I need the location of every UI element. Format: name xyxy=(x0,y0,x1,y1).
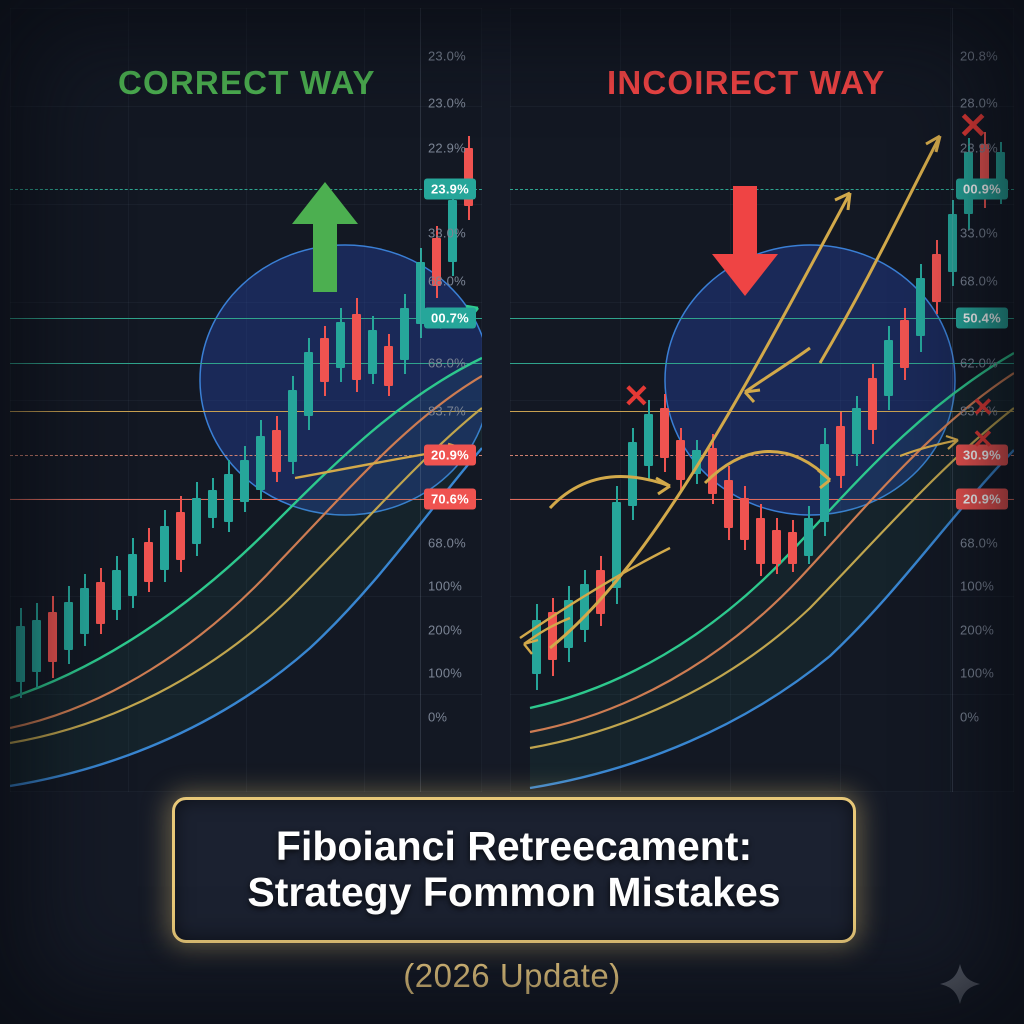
axis-line xyxy=(952,8,953,792)
axis-tick: 20.8% xyxy=(960,49,998,64)
correct-way-header: CORRECT WAY xyxy=(118,64,376,102)
axis-tick: 28.0% xyxy=(960,96,998,111)
axis-tick: 83.7% xyxy=(428,404,466,419)
axis-tick: 23.0% xyxy=(428,49,466,64)
incorrect-way-header: INCOIRECT WAY xyxy=(607,64,885,102)
x-mark-icon: ✕ xyxy=(623,380,650,412)
gold-annotation-arrows xyxy=(510,8,1014,792)
incorrect-way-chart[interactable]: ✕ ✕ 20.8% 28.0% 23.9% 00.9% 33.0% 68.0% … xyxy=(510,8,1014,792)
axis-tick: 68.0% xyxy=(960,536,998,551)
price-axis-right[interactable]: 20.8% 28.0% 23.9% 00.9% 33.0% 68.0% 50.4… xyxy=(952,8,1014,792)
axis-tick: 68.0% xyxy=(960,274,998,289)
x-mark-icon: ✕ xyxy=(972,426,994,452)
axis-tick-badge: 70.6% xyxy=(424,489,476,510)
up-arrow-icon xyxy=(290,182,360,292)
axis-tick: 100% xyxy=(428,579,462,594)
axis-tick: 100% xyxy=(428,666,462,681)
axis-tick-badge: 50.4% xyxy=(956,308,1008,329)
sparkle-icon xyxy=(938,962,982,1006)
axis-tick: 100% xyxy=(960,666,994,681)
axis-tick: 23.9% xyxy=(960,141,998,156)
infographic-root: 23.0% 23.0% 22.9% 23.9% 33.0% 68.0% 00.7… xyxy=(0,0,1024,1024)
axis-line xyxy=(420,8,421,792)
axis-tick: 68.0% xyxy=(428,274,466,289)
axis-tick: 68.0% xyxy=(428,536,466,551)
axis-tick: 62.0% xyxy=(960,356,998,371)
axis-tick-badge: 20.9% xyxy=(956,489,1008,510)
price-axis-left[interactable]: 23.0% 23.0% 22.9% 23.9% 33.0% 68.0% 00.7… xyxy=(420,8,482,792)
axis-tick: 33.0% xyxy=(428,226,466,241)
axis-tick-badge: 23.9% xyxy=(424,179,476,200)
axis-tick-badge: 20.9% xyxy=(424,445,476,466)
title-line-2: Strategy Fommon Mistakes xyxy=(247,870,780,916)
axis-tick: 0% xyxy=(428,710,447,725)
axis-tick: 23.0% xyxy=(428,96,466,111)
x-mark-icon: ✕ xyxy=(972,394,994,420)
subtitle: (2026 Update) xyxy=(0,957,1024,995)
charts-container: 23.0% 23.0% 22.9% 23.9% 33.0% 68.0% 00.7… xyxy=(10,8,1014,792)
axis-tick-badge: 00.7% xyxy=(424,308,476,329)
axis-tick: 200% xyxy=(428,623,462,638)
title-banner: Fiboianci Retreecament: Strategy Fommon … xyxy=(172,797,856,943)
down-arrow-icon xyxy=(710,186,780,296)
panel-divider xyxy=(488,8,504,792)
axis-tick: 100% xyxy=(960,579,994,594)
title-line-1: Fiboianci Retreecament: xyxy=(276,824,752,870)
axis-tick: 22.9% xyxy=(428,141,466,156)
axis-tick-badge: 00.9% xyxy=(956,179,1008,200)
axis-tick: 68.0% xyxy=(428,356,466,371)
correct-way-chart[interactable]: 23.0% 23.0% 22.9% 23.9% 33.0% 68.0% 00.7… xyxy=(10,8,482,792)
axis-tick: 200% xyxy=(960,623,994,638)
axis-tick: 33.0% xyxy=(960,226,998,241)
gold-pointer-arrow-left xyxy=(10,8,482,792)
axis-tick: 0% xyxy=(960,710,979,725)
